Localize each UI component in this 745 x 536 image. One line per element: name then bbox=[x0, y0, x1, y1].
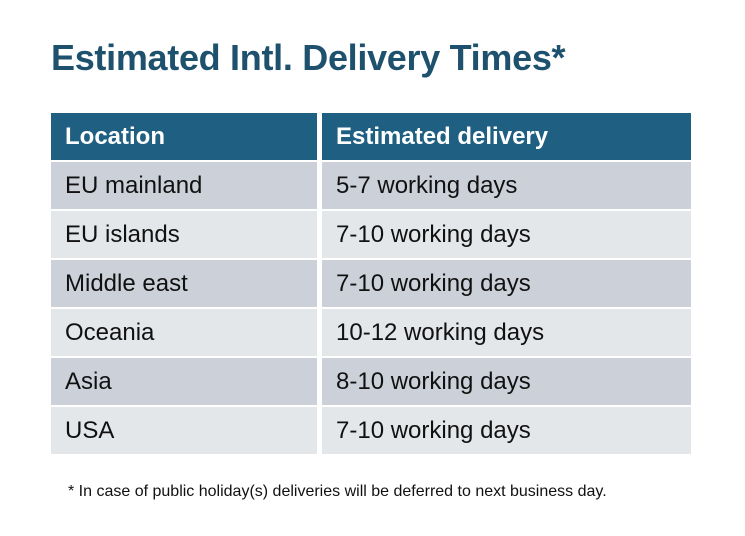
table-row: USA 7-10 working days bbox=[51, 407, 691, 454]
table-header: Location Estimated delivery bbox=[51, 113, 691, 162]
page-title: Estimated Intl. Delivery Times* bbox=[51, 36, 565, 80]
cell-location: EU islands bbox=[51, 211, 317, 258]
cell-location: Oceania bbox=[51, 309, 317, 356]
cell-location: USA bbox=[51, 407, 317, 454]
cell-delivery: 8-10 working days bbox=[322, 358, 691, 405]
cell-delivery: 7-10 working days bbox=[322, 211, 691, 258]
cell-location: Asia bbox=[51, 358, 317, 405]
cell-location: EU mainland bbox=[51, 162, 317, 209]
table-row: Asia 8-10 working days bbox=[51, 358, 691, 405]
table-body: EU mainland 5-7 working days EU islands … bbox=[51, 162, 691, 454]
cell-delivery: 5-7 working days bbox=[322, 162, 691, 209]
cell-delivery: 7-10 working days bbox=[322, 260, 691, 307]
column-header-estimated-delivery: Estimated delivery bbox=[322, 113, 691, 160]
table-row: Middle east 7-10 working days bbox=[51, 260, 691, 307]
table-header-row: Location Estimated delivery bbox=[51, 113, 691, 160]
delivery-times-table: Location Estimated delivery EU mainland … bbox=[51, 113, 691, 454]
cell-delivery: 7-10 working days bbox=[322, 407, 691, 454]
cell-location: Middle east bbox=[51, 260, 317, 307]
table-row: Oceania 10-12 working days bbox=[51, 309, 691, 356]
footnote: * In case of public holiday(s) deliverie… bbox=[68, 481, 607, 503]
delivery-times-page: Estimated Intl. Delivery Times* Location… bbox=[0, 0, 745, 536]
table-row: EU islands 7-10 working days bbox=[51, 211, 691, 258]
table-row: EU mainland 5-7 working days bbox=[51, 162, 691, 209]
cell-delivery: 10-12 working days bbox=[322, 309, 691, 356]
column-header-location: Location bbox=[51, 113, 317, 160]
